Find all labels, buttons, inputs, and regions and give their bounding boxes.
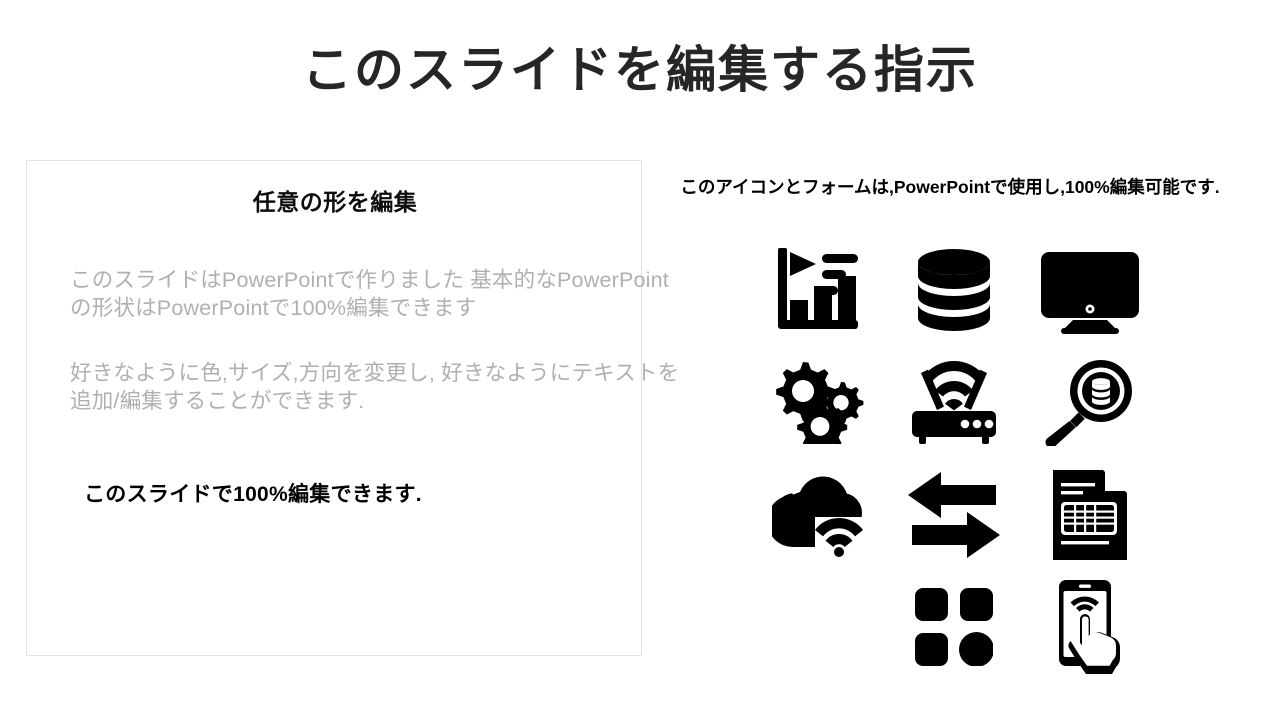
icons-caption: このアイコンとフォームは,PowerPointで使用し,100%編集可能です.: [660, 174, 1240, 199]
edit-shape-panel: 任意の形を編集 このスライドはPowerPointで作りました 基本的なPowe…: [26, 160, 642, 656]
panel-paragraph-1: このスライドはPowerPointで作りました 基本的なPowerPointの形…: [70, 266, 670, 323]
page-title: このスライドを編集する指示: [0, 42, 1280, 100]
icon-grid: [750, 235, 1160, 683]
document-table-icon: [1022, 459, 1158, 571]
wifi-router-icon: [886, 347, 1022, 459]
gears-icon: [750, 347, 886, 459]
slide-canvas: このスライドを編集する指示 任意の形を編集 このスライドはPowerPointで…: [0, 0, 1280, 720]
exchange-arrows-icon: [886, 459, 1022, 571]
grid-shapes-icon: [886, 571, 1022, 683]
magnifier-database-icon: [1022, 347, 1158, 459]
monitor-dashboard-icon: [1022, 235, 1158, 347]
cloud-wifi-icon: [750, 459, 886, 571]
bar-chart-flag-icon: [750, 235, 886, 347]
smartphone-touch-icon: [1022, 571, 1158, 683]
panel-paragraph-2: 好きなように色,サイズ,方向を変更し, 好きなようにテキストを追加/編集すること…: [70, 359, 684, 416]
panel-heading: 任意の形を編集: [27, 183, 643, 217]
database-icon: [886, 235, 1022, 347]
panel-emphasis-text: このスライドで100%編集できます.: [84, 478, 422, 508]
